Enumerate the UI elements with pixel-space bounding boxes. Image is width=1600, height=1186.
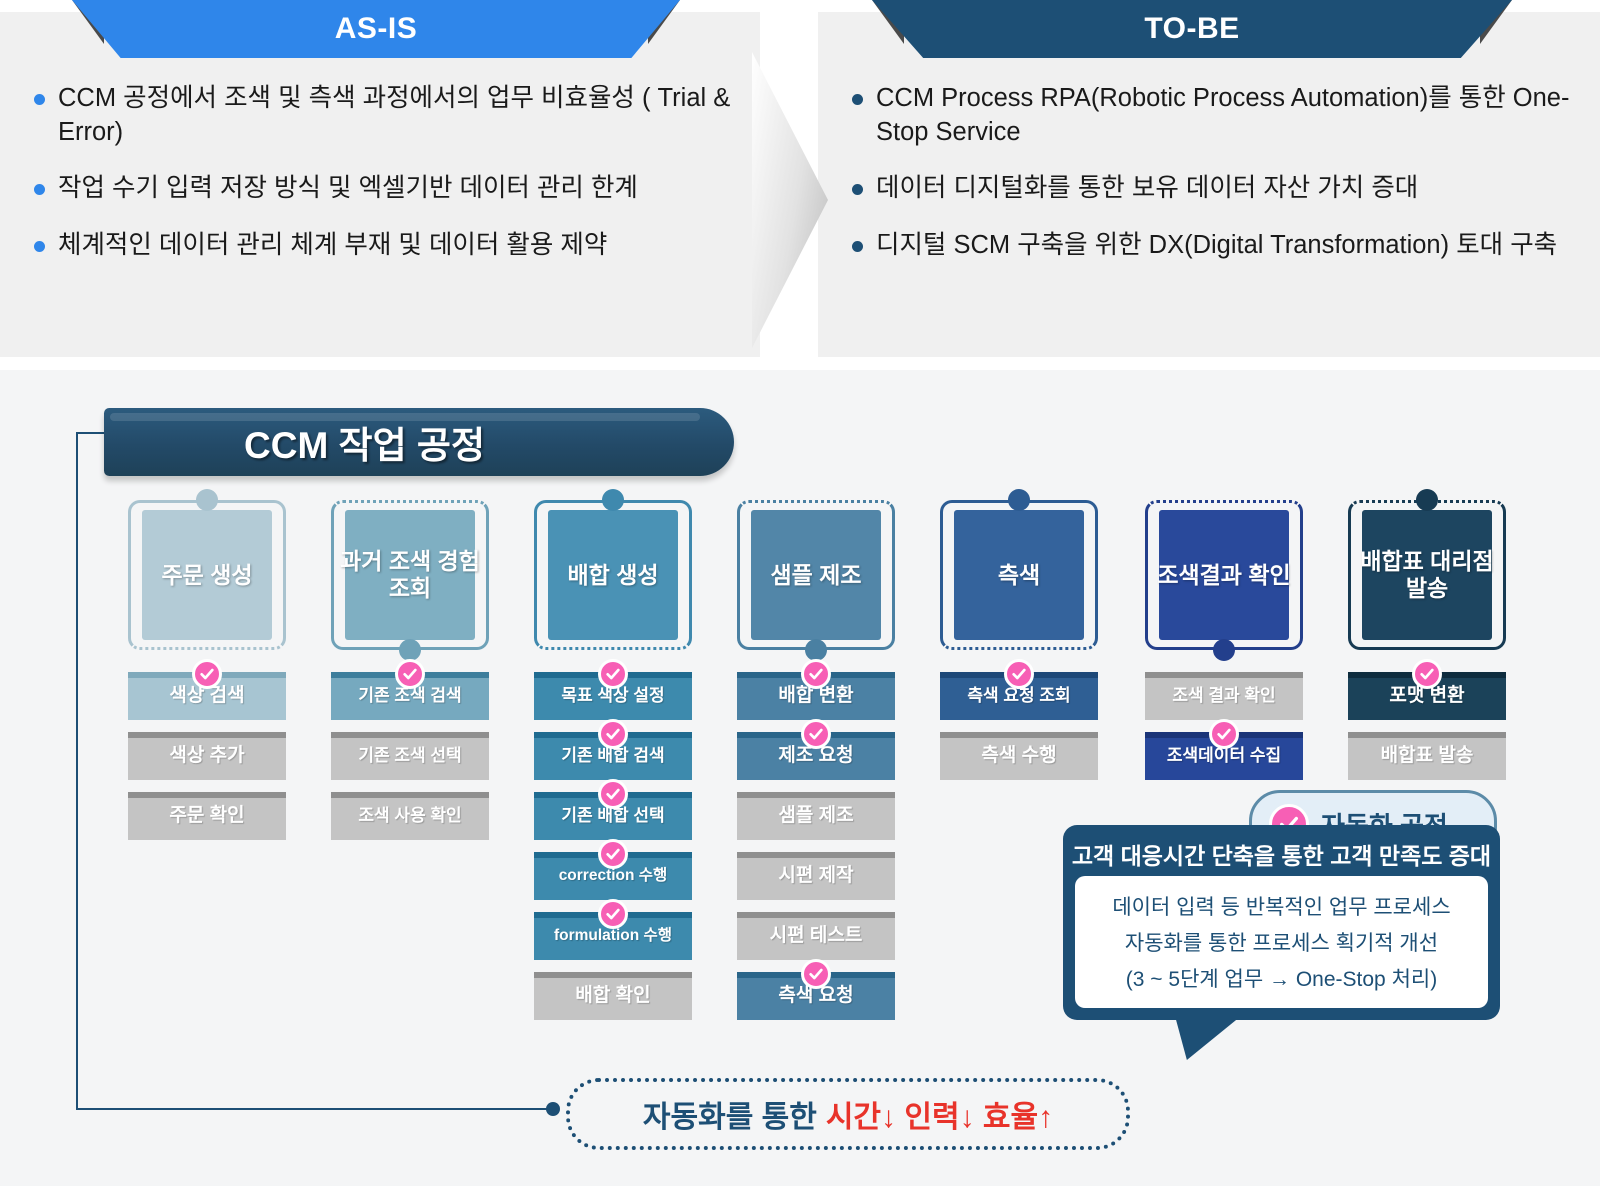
automated-check-icon xyxy=(1209,719,1239,749)
stage-card[interactable]: 배합 생성 xyxy=(534,500,692,650)
to-be-bullet-text: CCM Process RPA(Robotic Process Automati… xyxy=(876,82,1574,149)
comparison-section: CCM 공정에서 조색 및 측색 과정에서의 업무 비효율성 ( Trial &… xyxy=(0,0,1600,368)
stage-label: 배합표 대리점 발송 xyxy=(1348,548,1506,601)
task-label: 조색데이터 수집 xyxy=(1164,747,1284,766)
to-be-panel: CCM Process RPA(Robotic Process Automati… xyxy=(818,12,1600,357)
task-accent-bar xyxy=(128,792,286,798)
task-chip[interactable]: 측색 요청 xyxy=(737,972,895,1020)
task-list: 배합 변환제조 요청샘플 제조시편 제작시편 테스트측색 요청 xyxy=(737,672,895,1020)
feedback-line xyxy=(76,1108,554,1110)
automated-check-icon xyxy=(801,659,831,689)
as-is-bullet-text: CCM 공정에서 조색 및 측색 과정에서의 업무 비효율성 ( Trial &… xyxy=(58,82,734,149)
task-accent-bar xyxy=(534,972,692,978)
task-chip[interactable]: 조색데이터 수집 xyxy=(1145,732,1303,780)
stage-label: 조색결과 확인 xyxy=(1157,562,1290,589)
task-label: 기존 배합 검색 xyxy=(558,747,667,766)
task-label: 주문 확인 xyxy=(166,806,247,827)
task-chip[interactable]: 주문 확인 xyxy=(128,792,286,840)
bullet-dot-icon xyxy=(852,241,863,252)
automated-check-icon xyxy=(801,719,831,749)
task-list: 측색 요청 조회측색 수행 xyxy=(940,672,1098,780)
transition-arrow-icon xyxy=(752,52,828,348)
stage-card[interactable]: 조색결과 확인 xyxy=(1145,500,1303,650)
task-chip[interactable]: 샘플 제조 xyxy=(737,792,895,840)
task-chip[interactable]: 기존 조색 검색 xyxy=(331,672,489,720)
stage-label: 배합 생성 xyxy=(567,562,658,589)
task-chip[interactable]: 시편 테스트 xyxy=(737,912,895,960)
task-label: 조색 결과 확인 xyxy=(1169,687,1278,706)
task-accent-bar xyxy=(331,792,489,798)
stage-connector-dot xyxy=(602,489,624,511)
list-item: CCM 공정에서 조색 및 측색 과정에서의 업무 비효율성 ( Trial &… xyxy=(26,82,734,149)
task-chip[interactable]: 배합 확인 xyxy=(534,972,692,1020)
task-chip[interactable]: 색상 검색 xyxy=(128,672,286,720)
as-is-bullet-text: 작업 수기 입력 저장 방식 및 엑셀기반 데이터 관리 한계 xyxy=(58,172,638,206)
as-is-title: AS-IS xyxy=(72,0,680,58)
task-chip[interactable]: 조색 결과 확인 xyxy=(1145,672,1303,720)
task-accent-bar xyxy=(128,732,286,738)
task-accent-bar xyxy=(737,912,895,918)
process-column: 주문 생성색상 검색색상 추가주문 확인 xyxy=(128,500,286,852)
benefit-callout: 고객 대응시간 단축을 통한 고객 만족도 증대 데이터 입력 등 반복적인 업… xyxy=(1063,825,1500,1020)
stage-card[interactable]: 측색 xyxy=(940,500,1098,650)
stage-label: 과거 조색 경험 조회 xyxy=(331,548,489,601)
stage-connector-dot xyxy=(1008,489,1030,511)
list-item: CCM Process RPA(Robotic Process Automati… xyxy=(844,82,1574,149)
stage-connector-dot xyxy=(805,639,827,661)
task-list: 조색 결과 확인조색데이터 수집 xyxy=(1145,672,1303,780)
task-label: 측색 수행 xyxy=(978,746,1059,767)
task-accent-bar xyxy=(331,732,489,738)
task-label: 시편 테스트 xyxy=(767,926,866,947)
bullet-dot-icon xyxy=(34,184,45,195)
automated-check-icon xyxy=(1412,659,1442,689)
feedback-line xyxy=(76,432,78,1110)
automated-check-icon xyxy=(598,839,628,869)
process-column: 과거 조색 경험 조회기존 조색 검색기존 조색 선택조색 사용 확인 xyxy=(331,500,489,852)
task-chip[interactable]: 색상 추가 xyxy=(128,732,286,780)
task-label: formulation 수행 xyxy=(551,927,675,944)
task-label: 기존 조색 선택 xyxy=(355,747,464,766)
summary-prefix: 자동화를 통한 xyxy=(643,1092,817,1136)
callout-line: (3 ~ 5단계 업무 → One-Stop 처리) xyxy=(1126,963,1437,993)
task-label: 기존 조색 검색 xyxy=(355,687,464,706)
task-chip[interactable]: 포맷 변환 xyxy=(1348,672,1506,720)
list-item: 체계적인 데이터 관리 체계 부재 및 데이터 활용 제약 xyxy=(26,229,734,263)
bullet-dot-icon xyxy=(34,94,45,105)
stage-connector-dot xyxy=(399,639,421,661)
stage-label: 샘플 제조 xyxy=(770,562,861,589)
task-chip[interactable]: 조색 사용 확인 xyxy=(331,792,489,840)
automated-check-icon xyxy=(801,959,831,989)
task-chip[interactable]: formulation 수행 xyxy=(534,912,692,960)
task-chip[interactable]: 기존 조색 선택 xyxy=(331,732,489,780)
task-list: 기존 조색 검색기존 조색 선택조색 사용 확인 xyxy=(331,672,489,840)
automated-check-icon xyxy=(598,719,628,749)
automated-check-icon xyxy=(598,899,628,929)
to-be-bullet-text: 데이터 디지털화를 통한 보유 데이터 자산 가치 증대 xyxy=(876,172,1418,206)
task-accent-bar xyxy=(1348,732,1506,738)
task-chip[interactable]: 시편 제작 xyxy=(737,852,895,900)
task-label: 샘플 제조 xyxy=(775,806,856,827)
task-label: 목표 색상 설정 xyxy=(558,687,667,706)
task-label: 색상 추가 xyxy=(166,746,247,767)
task-list: 목표 색상 설정기존 배합 검색기존 배합 선택correction 수행for… xyxy=(534,672,692,1020)
task-label: 배합표 발송 xyxy=(1378,746,1477,767)
stage-card[interactable]: 배합표 대리점 발송 xyxy=(1348,500,1506,650)
list-item: 디지털 SCM 구축을 위한 DX(Digital Transformation… xyxy=(844,229,1574,263)
stage-card[interactable]: 주문 생성 xyxy=(128,500,286,650)
task-chip[interactable]: 기존 배합 검색 xyxy=(534,732,692,780)
task-chip[interactable]: 측색 요청 조회 xyxy=(940,672,1098,720)
process-column: 배합표 대리점 발송포맷 변환배합표 발송 xyxy=(1348,500,1506,792)
process-columns: 주문 생성색상 검색색상 추가주문 확인과거 조색 경험 조회기존 조색 검색기… xyxy=(0,370,1600,1186)
automated-check-icon xyxy=(395,659,425,689)
list-item: 작업 수기 입력 저장 방식 및 엑셀기반 데이터 관리 한계 xyxy=(26,172,734,206)
task-label: correction 수행 xyxy=(556,867,671,884)
task-chip[interactable]: 제조 요청 xyxy=(737,732,895,780)
task-label: 시편 제작 xyxy=(775,866,856,887)
callout-line: 데이터 입력 등 반복적인 업무 프로세스 xyxy=(1112,891,1450,921)
automated-check-icon xyxy=(1004,659,1034,689)
task-chip[interactable]: 기존 배합 선택 xyxy=(534,792,692,840)
as-is-bullet-list: CCM 공정에서 조색 및 측색 과정에서의 업무 비효율성 ( Trial &… xyxy=(0,82,760,286)
task-label: 측색 요청 조회 xyxy=(964,687,1073,706)
bullet-dot-icon xyxy=(852,94,863,105)
callout-title: 고객 대응시간 단축을 통한 고객 만족도 증대 xyxy=(1063,825,1500,879)
process-column: 배합 생성목표 색상 설정기존 배합 검색기존 배합 선택correction … xyxy=(534,500,692,1032)
task-accent-bar xyxy=(1145,672,1303,678)
stage-label: 측색 xyxy=(998,562,1040,589)
automated-check-icon xyxy=(598,659,628,689)
process-column: 측색측색 요청 조회측색 수행 xyxy=(940,500,1098,792)
task-label: 기존 배합 선택 xyxy=(558,807,667,826)
bullet-dot-icon xyxy=(34,241,45,252)
process-column: 샘플 제조배합 변환제조 요청샘플 제조시편 제작시편 테스트측색 요청 xyxy=(737,500,895,1032)
stage-card[interactable]: 과거 조색 경험 조회 xyxy=(331,500,489,650)
to-be-bullet-list: CCM Process RPA(Robotic Process Automati… xyxy=(818,82,1600,286)
task-list: 포맷 변환배합표 발송 xyxy=(1348,672,1506,780)
stage-card[interactable]: 샘플 제조 xyxy=(737,500,895,650)
callout-line: 자동화를 통한 프로세스 획기적 개선 xyxy=(1125,927,1438,957)
bullet-dot-icon xyxy=(852,184,863,195)
list-item: 데이터 디지털화를 통한 보유 데이터 자산 가치 증대 xyxy=(844,172,1574,206)
task-list: 색상 검색색상 추가주문 확인 xyxy=(128,672,286,840)
task-chip[interactable]: 배합표 발송 xyxy=(1348,732,1506,780)
page-title: CCM 작업 공정 xyxy=(244,415,485,469)
task-label: 배합 확인 xyxy=(572,986,653,1007)
task-chip[interactable]: 측색 수행 xyxy=(940,732,1098,780)
automated-check-icon xyxy=(598,779,628,809)
task-chip[interactable]: 배합 변환 xyxy=(737,672,895,720)
summary-highlight: 시간↓ 인력↓ 효율↑ xyxy=(826,1092,1053,1136)
to-be-title: TO-BE xyxy=(872,0,1512,58)
summary-pill: 자동화를 통한 시간↓ 인력↓ 효율↑ xyxy=(566,1078,1130,1150)
process-column: 조색결과 확인조색 결과 확인조색데이터 수집 xyxy=(1145,500,1303,792)
stage-label: 주문 생성 xyxy=(161,562,252,589)
task-accent-bar xyxy=(737,792,895,798)
stage-connector-dot xyxy=(1213,639,1235,661)
task-chip[interactable]: correction 수행 xyxy=(534,852,692,900)
automated-check-icon xyxy=(192,659,222,689)
process-diagram: CCM 작업 공정 자동화 공정 주문 생성색상 검색색상 추가주문 확인과거 … xyxy=(0,370,1600,1186)
as-is-bullet-text: 체계적인 데이터 관리 체계 부재 및 데이터 활용 제약 xyxy=(58,229,607,263)
task-accent-bar xyxy=(737,852,895,858)
stage-connector-dot xyxy=(1416,489,1438,511)
task-chip[interactable]: 목표 색상 설정 xyxy=(534,672,692,720)
diagram-title-banner: CCM 작업 공정 xyxy=(104,408,734,476)
as-is-panel: CCM 공정에서 조색 및 측색 과정에서의 업무 비효율성 ( Trial &… xyxy=(0,12,760,357)
task-accent-bar xyxy=(940,732,1098,738)
task-label: 조색 사용 확인 xyxy=(355,807,464,826)
callout-body: 데이터 입력 등 반복적인 업무 프로세스 자동화를 통한 프로세스 획기적 개… xyxy=(1075,876,1488,1008)
to-be-bullet-text: 디지털 SCM 구축을 위한 DX(Digital Transformation… xyxy=(876,229,1557,263)
stage-connector-dot xyxy=(196,489,218,511)
feedback-line-endpoint xyxy=(546,1102,560,1116)
